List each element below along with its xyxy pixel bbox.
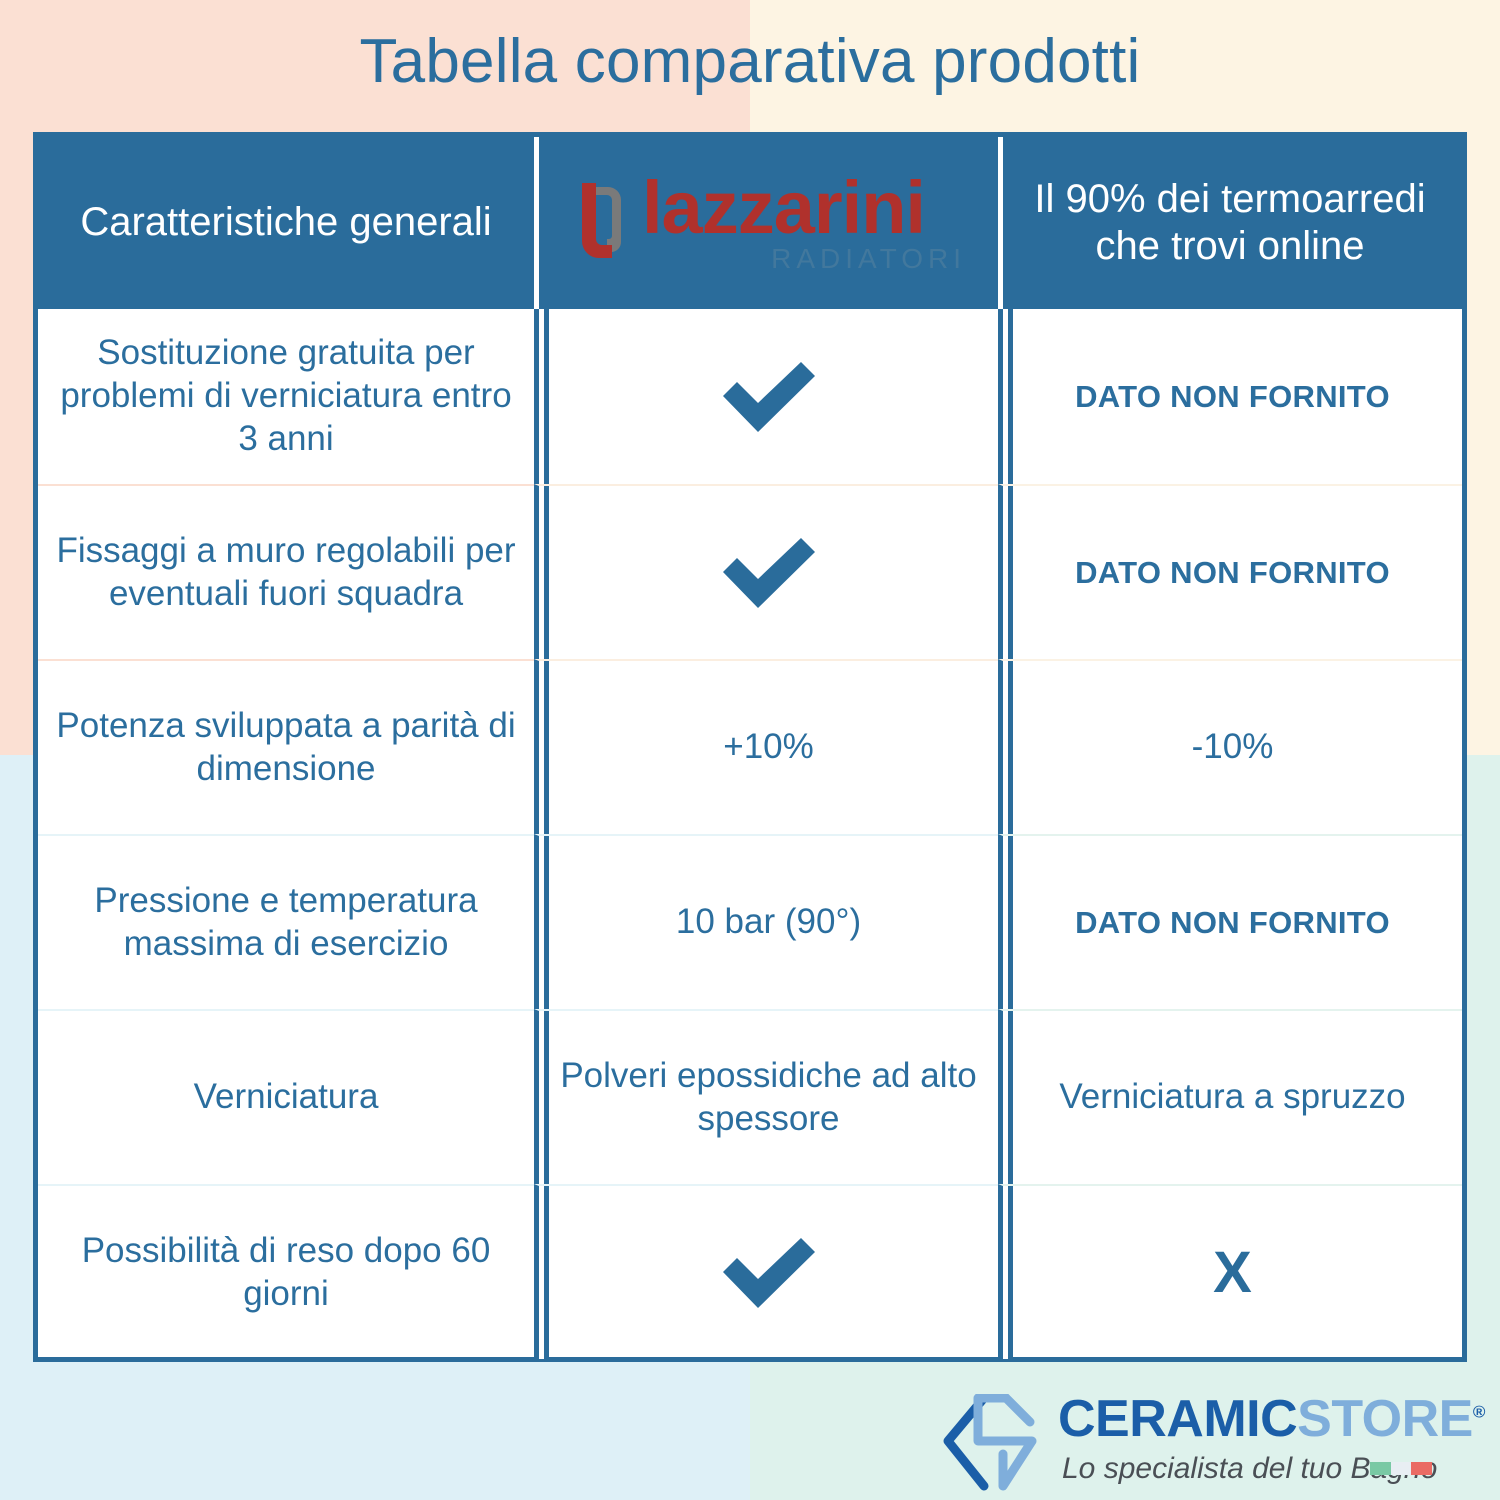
comparison-table: Caratteristiche generali lazzarini RADIA… <box>33 132 1467 1362</box>
row-competitor-cell: DATO NON FORNITO <box>998 309 1462 484</box>
header-competitor-label: Il 90% dei termoarredi che trovi online <box>1012 176 1448 270</box>
ceramic-word: CERAMIC <box>1058 1390 1297 1448</box>
flag-stripe-red <box>1411 1462 1432 1475</box>
row-feature-label: Sostituzione gratuita per problemi di ve… <box>52 332 520 460</box>
table-row: Fissaggi a muro regolabili per eventuali… <box>38 484 1462 659</box>
row-competitor-cell: Verniciatura a spruzzo <box>998 1009 1462 1184</box>
check-icon <box>713 352 825 442</box>
row-lazzarini-cell <box>534 484 998 659</box>
table-row: Possibilità di reso dopo 60 giorni X <box>38 1184 1462 1359</box>
check-icon <box>713 528 825 618</box>
row-competitor-value: DATO NON FORNITO <box>1075 378 1390 416</box>
header-cell-competitor: Il 90% dei termoarredi che trovi online <box>998 137 1462 309</box>
row-feature-cell: Potenza sviluppata a parità di dimension… <box>38 659 534 834</box>
row-lazzarini-value: Polveri epossidiche ad alto spessore <box>553 1055 984 1140</box>
row-feature-cell: Pressione e temperatura massima di eserc… <box>38 834 534 1009</box>
x-mark-icon: X <box>1213 1244 1252 1302</box>
row-lazzarini-cell: 10 bar (90°) <box>534 834 998 1009</box>
row-competitor-cell: DATO NON FORNITO <box>998 484 1462 659</box>
row-feature-label: Fissaggi a muro regolabili per eventuali… <box>52 530 520 615</box>
header-cell-lazzarini: lazzarini RADIATORI <box>534 137 998 309</box>
row-feature-label: Pressione e temperatura massima di eserc… <box>52 880 520 965</box>
lazzarini-subtitle: RADIATORI <box>771 245 966 273</box>
row-competitor-cell: -10% <box>998 659 1462 834</box>
table-row: Sostituzione gratuita per problemi di ve… <box>38 309 1462 484</box>
flag-stripe-white <box>1391 1462 1412 1475</box>
table-row: Potenza sviluppata a parità di dimension… <box>38 659 1462 834</box>
row-lazzarini-value: +10% <box>723 726 814 769</box>
store-word: STORE <box>1297 1390 1473 1448</box>
row-lazzarini-cell <box>534 1184 998 1359</box>
row-feature-label: Verniciatura <box>194 1076 379 1119</box>
row-feature-cell: Sostituzione gratuita per problemi di ve… <box>38 309 534 484</box>
row-feature-cell: Verniciatura <box>38 1009 534 1184</box>
row-lazzarini-cell: Polveri epossidiche ad alto spessore <box>534 1009 998 1184</box>
row-feature-cell: Possibilità di reso dopo 60 giorni <box>38 1184 534 1359</box>
flag-stripe-green <box>1370 1462 1391 1475</box>
row-competitor-cell: X <box>998 1184 1462 1359</box>
row-lazzarini-value: 10 bar (90°) <box>676 901 861 944</box>
row-competitor-cell: DATO NON FORNITO <box>998 834 1462 1009</box>
lazzarini-wordmark: lazzarini <box>642 171 925 245</box>
ceramicstore-wordmark: CERAMICSTORE® <box>1058 1392 1485 1447</box>
table-row: Verniciatura Polveri epossidiche ad alto… <box>38 1009 1462 1184</box>
row-competitor-value: DATO NON FORNITO <box>1075 904 1390 942</box>
lazzarini-mark-icon <box>574 181 634 265</box>
row-lazzarini-cell: +10% <box>534 659 998 834</box>
check-icon <box>713 1228 825 1318</box>
row-lazzarini-cell <box>534 309 998 484</box>
row-competitor-value: Verniciatura a spruzzo <box>1059 1076 1405 1119</box>
infographic-canvas: Tabella comparativa prodotti Caratterist… <box>0 0 1500 1500</box>
lazzarini-logo: lazzarini RADIATORI <box>556 163 976 283</box>
ceramicstore-mark-icon <box>940 1394 1044 1492</box>
italian-flag-icon <box>1370 1462 1432 1475</box>
ceramicstore-logo: CERAMICSTORE® Lo specialista del tuo Bag… <box>940 1392 1460 1496</box>
row-feature-label: Possibilità di reso dopo 60 giorni <box>52 1230 520 1315</box>
page-title: Tabella comparativa prodotti <box>0 28 1500 96</box>
header-cell-features: Caratteristiche generali <box>38 137 534 309</box>
registered-mark: ® <box>1473 1403 1485 1422</box>
header-features-label: Caratteristiche generali <box>80 199 491 246</box>
table-header-row: Caratteristiche generali lazzarini RADIA… <box>38 137 1462 309</box>
table-row: Pressione e temperatura massima di eserc… <box>38 834 1462 1009</box>
row-feature-cell: Fissaggi a muro regolabili per eventuali… <box>38 484 534 659</box>
row-feature-label: Potenza sviluppata a parità di dimension… <box>52 705 520 790</box>
row-competitor-value: -10% <box>1192 726 1274 769</box>
row-competitor-value: DATO NON FORNITO <box>1075 554 1390 592</box>
